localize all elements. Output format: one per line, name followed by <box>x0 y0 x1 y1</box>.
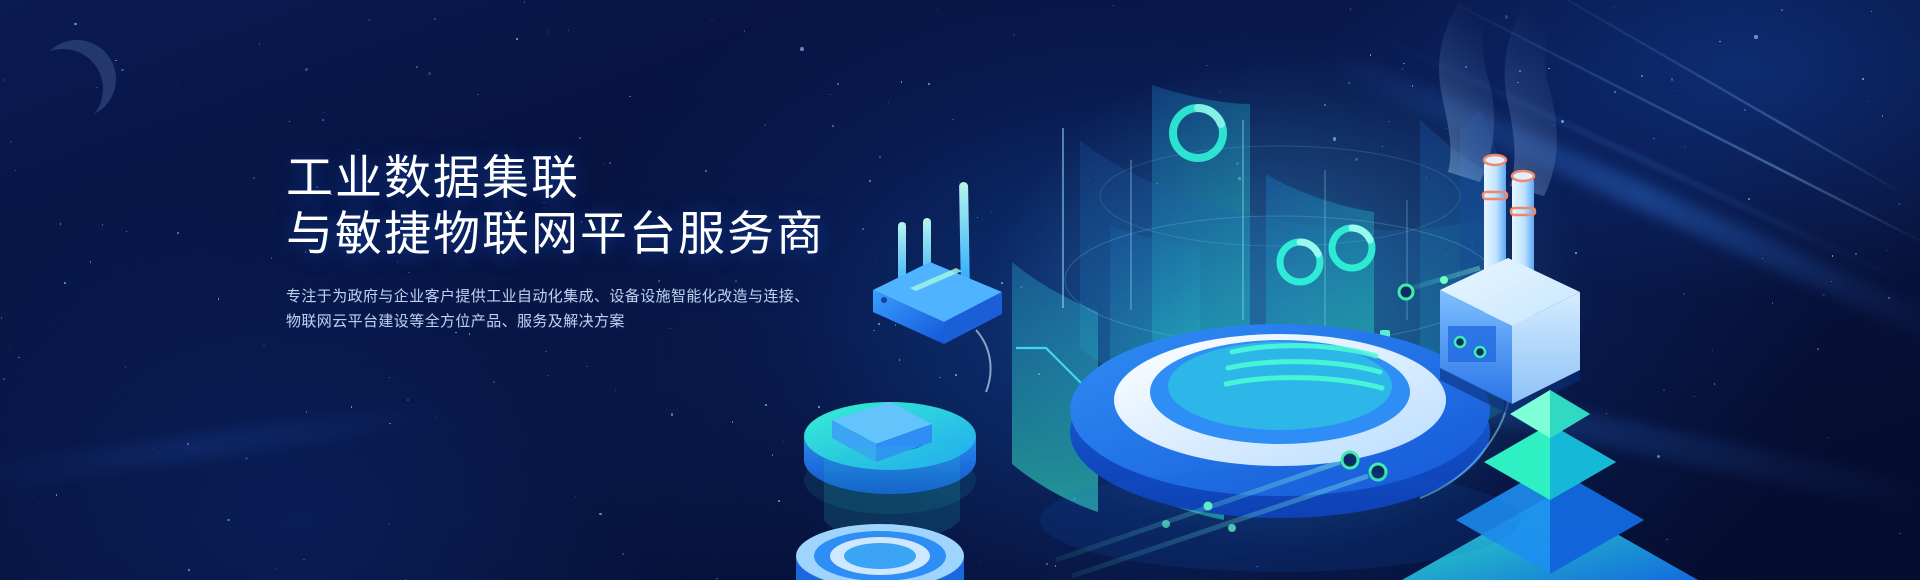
star-dot <box>254 310 256 312</box>
beam-node-1 <box>1342 452 1358 468</box>
star-dot <box>305 68 309 72</box>
star-dot <box>589 34 591 36</box>
star-dot <box>323 112 325 114</box>
star-dot <box>764 124 766 126</box>
star-dot <box>524 1 526 3</box>
star-dot <box>322 119 324 121</box>
star-dot <box>188 569 190 571</box>
star-dot <box>74 23 77 26</box>
star-dot <box>758 352 760 354</box>
star-dot <box>493 381 495 383</box>
star-dot <box>622 553 624 555</box>
star-dot <box>64 282 66 284</box>
star-dot <box>629 96 631 98</box>
star-dot <box>263 345 265 347</box>
star-dot <box>438 10 440 12</box>
disc-ground-glow <box>1040 468 1520 572</box>
star-dot <box>276 568 278 570</box>
star-dot <box>568 30 570 32</box>
star-dot <box>18 357 20 359</box>
star-dot <box>599 513 602 516</box>
star-dot <box>547 31 549 33</box>
star-dot <box>671 413 674 416</box>
star-dot <box>615 389 617 391</box>
star-dot <box>177 232 179 234</box>
star-dot <box>368 19 370 21</box>
star-dot <box>732 421 734 423</box>
star-dot <box>306 411 308 413</box>
star-dot <box>3 378 6 381</box>
star-dot <box>547 375 549 377</box>
star-dot <box>303 559 305 561</box>
chimney-right-cap <box>1512 171 1534 181</box>
star-dot <box>60 223 62 225</box>
star-dot <box>434 18 436 20</box>
star-dot <box>176 85 178 87</box>
star-dot <box>227 519 230 522</box>
star-dot <box>125 366 127 368</box>
router-cable <box>976 330 991 392</box>
star-dot <box>56 494 58 496</box>
star-dot <box>407 399 409 401</box>
star-dot <box>39 503 41 505</box>
star-dot <box>115 60 117 62</box>
beam-node-3 <box>1399 285 1413 299</box>
star-dot <box>29 105 31 107</box>
star-dot <box>744 30 746 32</box>
chimney-left-cap <box>1484 155 1506 165</box>
star-dot <box>3 79 5 81</box>
star-dot <box>416 66 418 68</box>
pyramid-tier-1-shade <box>1550 390 1590 438</box>
star-dot <box>575 496 577 498</box>
star-dot <box>765 404 767 406</box>
hero-illustration <box>780 0 1920 580</box>
star-dot <box>579 137 581 139</box>
router-indicator <box>881 297 887 303</box>
star-dot <box>9 349 11 351</box>
moon-arc-icon <box>38 40 116 118</box>
star-dot <box>516 38 518 40</box>
star-dot <box>545 351 547 353</box>
donut-chart-block <box>804 402 976 540</box>
star-dot <box>15 170 17 172</box>
star-dot <box>94 260 96 262</box>
star-dot <box>388 523 390 525</box>
factory-port-2 <box>1475 347 1485 357</box>
star-dot <box>271 257 273 259</box>
router-device <box>873 182 1002 392</box>
star-dot <box>716 578 718 580</box>
star-dot <box>1 317 3 319</box>
pedestal-core <box>844 543 916 569</box>
star-dot <box>711 20 713 22</box>
star-dot <box>10 141 12 143</box>
star-dot <box>245 457 248 460</box>
star-dot <box>389 377 391 379</box>
star-dot <box>477 94 479 96</box>
star-dot <box>102 224 104 226</box>
star-dot <box>253 177 255 179</box>
star-dot <box>586 366 588 368</box>
star-dot <box>351 406 353 408</box>
star-dot <box>772 454 774 456</box>
light-glow-band-left <box>0 398 457 496</box>
star-dot <box>289 121 291 123</box>
star-dot <box>90 261 92 263</box>
star-dot <box>428 72 431 75</box>
star-dot <box>218 298 220 300</box>
hero-banner: 工业数据集联 与敏捷物联网平台服务商 专注于为政府与企业客户提供工业自动化集成、… <box>0 0 1920 580</box>
beam-dot-4 <box>1440 276 1448 284</box>
star-dot <box>126 231 128 233</box>
star-dot <box>121 69 124 72</box>
factory-port-1 <box>1455 337 1465 347</box>
star-dot <box>259 43 261 45</box>
disc-core <box>1168 342 1392 430</box>
